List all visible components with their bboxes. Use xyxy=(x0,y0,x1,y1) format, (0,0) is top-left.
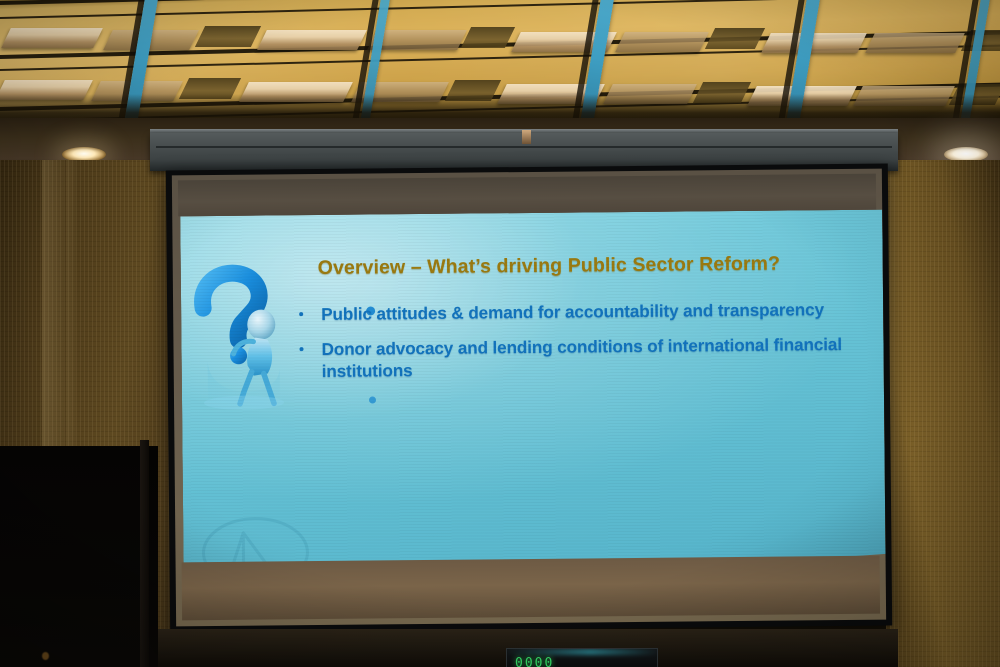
dark-object-edge xyxy=(140,440,149,667)
screen-unlit-top-band xyxy=(178,174,876,217)
slide-bullet-item: Public attitudes & demand for accountabi… xyxy=(291,298,871,326)
slide-bullet-text: Donor advocacy and lending conditions of… xyxy=(321,334,842,381)
ceiling-slot xyxy=(195,26,261,47)
ceiling-slot xyxy=(705,28,765,49)
av-panel-glow xyxy=(507,649,658,655)
ceiling-light-panel xyxy=(761,33,867,53)
screen-valance-slit xyxy=(156,146,892,148)
screen-mount-bracket xyxy=(522,130,531,144)
av-display-text: 0000 xyxy=(515,657,554,667)
av-control-display[interactable]: 0000 xyxy=(506,648,658,667)
dark-foreground-object xyxy=(0,446,158,667)
bullet-dot-icon xyxy=(299,312,303,316)
slide-bullet-text: Public attitudes & demand for accountabi… xyxy=(321,299,824,324)
question-mark-figure-clipart xyxy=(193,263,302,414)
bullet-dot-icon xyxy=(300,347,304,351)
ceiling-light-panel xyxy=(257,30,367,50)
ceiling-light-panel xyxy=(615,32,709,52)
screen-surface: Overview – What’s driving Public Sector … xyxy=(172,169,886,627)
ceiling-light-panel xyxy=(1,28,103,48)
fabric-wall-panel-right xyxy=(886,160,1000,667)
coffered-golden-ceiling xyxy=(0,0,1000,128)
wall-texture xyxy=(886,160,1000,667)
slide-title: Overview – What’s driving Public Sector … xyxy=(318,252,848,280)
slide-bullet-item: Donor advocacy and lending conditions of… xyxy=(291,333,871,383)
conference-room-photo: Overview – What’s driving Public Sector … xyxy=(0,0,1000,667)
projection-screen: Overview – What’s driving Public Sector … xyxy=(166,164,892,633)
dark-object-highlight xyxy=(42,652,49,660)
slide-bullet-list: Public attitudes & demand for accountabi… xyxy=(291,298,872,396)
decorative-dot xyxy=(369,396,376,403)
ceiling-light-panel xyxy=(865,33,965,53)
projected-slide: Overview – What’s driving Public Sector … xyxy=(180,210,886,615)
screen-unlit-bottom-band xyxy=(182,556,881,621)
